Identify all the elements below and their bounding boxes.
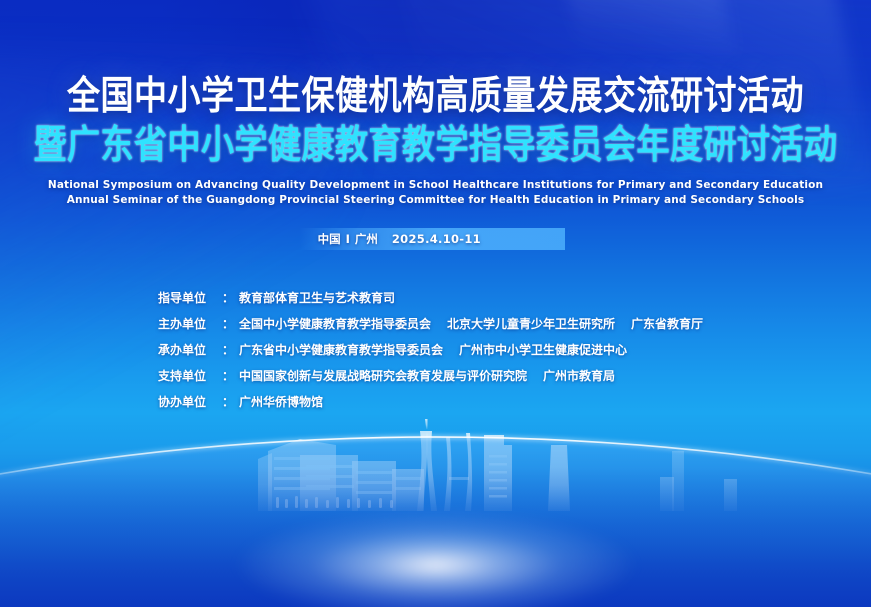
- event-date: 2025.4.10-11: [392, 232, 481, 246]
- title-block: 全国中小学卫生保健机构高质量发展交流研讨活动 暨广东省中小学健康教育教学指导委员…: [0, 76, 871, 158]
- organizer-row: 承办单位 ： 广东省中小学健康教育教学指导委员会 广州市中小学卫生健康促进中心: [158, 341, 703, 367]
- page-title-line2: 暨广东省中小学健康教育教学指导委员会年度研讨活动: [0, 125, 871, 164]
- organizer-label: 指导单位: [158, 289, 222, 306]
- organizer-value: 广州华侨博物馆: [239, 393, 323, 410]
- organizer-value: 教育部体育卫生与艺术教育司: [239, 289, 395, 306]
- organizer-value: 广东省中小学健康教育教学指导委员会: [239, 341, 443, 358]
- organizer-row: 支持单位 ： 中国国家创新与发展战略研究会教育发展与评价研究院 广州市教育局: [158, 367, 703, 393]
- organizer-colon: ：: [222, 393, 234, 410]
- organizer-row: 协办单位 ： 广州华侨博物馆: [158, 393, 703, 419]
- english-subtitle: National Symposium on Advancing Quality …: [0, 178, 871, 208]
- organizer-colon: ：: [222, 315, 234, 332]
- poster-content: 全国中小学卫生保健机构高质量发展交流研讨活动 暨广东省中小学健康教育教学指导委员…: [0, 0, 871, 607]
- venue-country: 中国: [318, 231, 341, 247]
- organizer-value: 中国国家创新与发展战略研究会教育发展与评价研究院: [239, 367, 527, 384]
- english-subtitle-line1: National Symposium on Advancing Quality …: [48, 179, 823, 191]
- organizer-colon: ：: [222, 341, 234, 358]
- english-subtitle-line2: Annual Seminar of the Guangdong Provinci…: [0, 193, 871, 208]
- organizer-label: 协办单位: [158, 393, 222, 410]
- organizer-value: 广东省教育厅: [631, 315, 703, 332]
- venue-date-banner: 中国 I 广州 2025.4.10-11: [299, 228, 565, 250]
- conference-poster: 全国中小学卫生保健机构高质量发展交流研讨活动 暨广东省中小学健康教育教学指导委员…: [0, 0, 871, 607]
- organizer-label: 主办单位: [158, 315, 222, 332]
- organizer-value: 广州市教育局: [543, 367, 615, 384]
- page-title-line1: 全国中小学卫生保健机构高质量发展交流研讨活动: [0, 76, 871, 115]
- organizer-label: 承办单位: [158, 341, 222, 358]
- organizer-label: 支持单位: [158, 367, 222, 384]
- organizer-colon: ：: [222, 367, 234, 384]
- venue-separator: I: [346, 232, 350, 246]
- venue-city: 广州: [355, 231, 378, 247]
- organizer-value: 北京大学儿童青少年卫生研究所: [447, 315, 615, 332]
- organizer-row: 指导单位 ： 教育部体育卫生与艺术教育司: [158, 289, 703, 315]
- organizer-colon: ：: [222, 289, 234, 306]
- organizer-value: 全国中小学健康教育教学指导委员会: [239, 315, 431, 332]
- organizer-row: 主办单位 ： 全国中小学健康教育教学指导委员会 北京大学儿童青少年卫生研究所 广…: [158, 315, 703, 341]
- organizer-list: 指导单位 ： 教育部体育卫生与艺术教育司 主办单位 ： 全国中小学健康教育教学指…: [158, 289, 703, 419]
- organizer-value: 广州市中小学卫生健康促进中心: [459, 341, 627, 358]
